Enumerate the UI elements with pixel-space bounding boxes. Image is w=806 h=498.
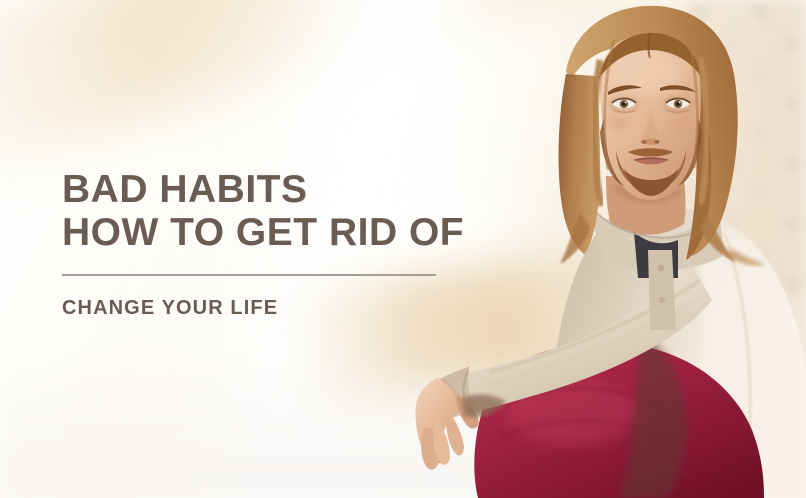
subheadline: CHANGE YOUR LIFE	[62, 276, 462, 320]
headline-line-2: HOW TO GET RID OF	[62, 211, 462, 254]
headline-block: BAD HABITS HOW TO GET RID OF CHANGE YOUR…	[62, 168, 462, 320]
headline-line-1: BAD HABITS	[62, 168, 308, 211]
promo-banner: BAD HABITS HOW TO GET RID OF CHANGE YOUR…	[0, 0, 806, 498]
page-title: BAD HABITS HOW TO GET RID OF	[62, 168, 462, 254]
